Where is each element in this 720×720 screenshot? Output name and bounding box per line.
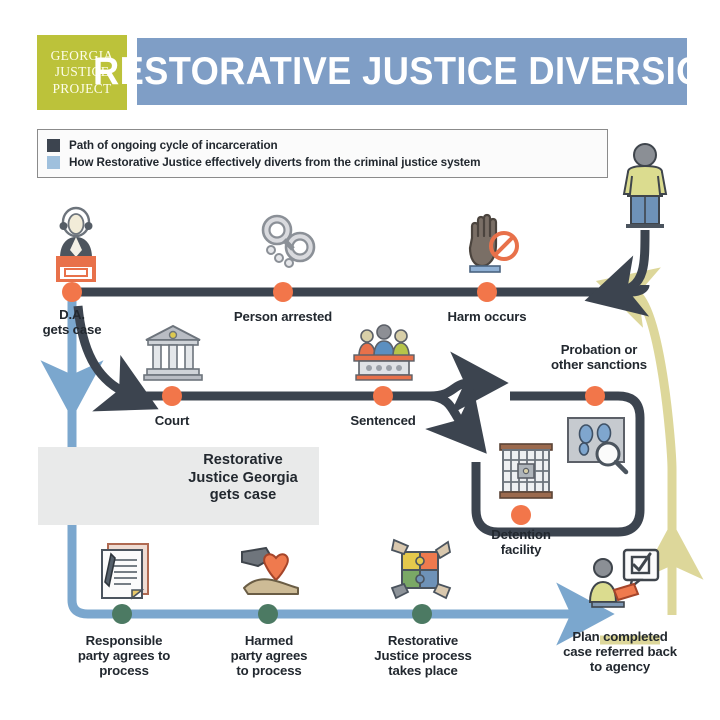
jail-cell-icon [497,440,555,502]
node-detention-facility[interactable] [511,505,531,525]
label-harmed-line-3: to process [210,664,328,679]
label-rjprocess-line-2: Justice process [358,649,488,664]
rj-label-line-3: gets case [168,487,318,505]
label-responsible-line-1: Responsible [62,634,186,649]
label-responsible-line-2: party agrees to [62,649,186,664]
label-da-gets-case: D.A. gets case [22,308,122,338]
rj-label-line-2: Justice Georgia [168,470,318,488]
label-rjprocess-line-1: Restorative [358,634,488,649]
label-court: Court [132,414,212,429]
title-banner: RESTORATIVE JUSTICE DIVERSION [137,38,687,105]
legend-label-restorative: How Restorative Justice effectively dive… [69,156,480,169]
courthouse-icon [142,322,204,384]
node-probation[interactable] [585,386,605,406]
node-court[interactable] [162,386,182,406]
label-harmed-line-2: party agrees [210,649,328,664]
label-plan-completed: Plan completed case referred back to age… [548,630,692,675]
label-da-line-1: D.A. [22,308,122,323]
jury-box-icon [352,324,416,384]
label-person-arrested: Person arrested [208,310,358,325]
node-harmed-party-agrees[interactable] [258,604,278,624]
stop-hand-icon [462,204,520,280]
label-detention-line-2: facility [466,543,576,558]
node-da-gets-case[interactable] [62,282,82,302]
rj-georgia-label: Restorative Justice Georgia gets case [168,452,318,505]
label-detention-line-1: Detention [466,528,576,543]
label-rj-process: Restorative Justice process takes place [358,634,488,679]
label-da-line-2: gets case [22,323,122,338]
label-sentenced: Sentenced [328,414,438,429]
label-probation: Probation or other sanctions [524,343,674,373]
label-probation-line-2: other sanctions [524,358,674,373]
label-plan-line-1: Plan completed [548,630,692,645]
legend-swatch-blue [47,156,60,169]
legend-item-incarceration: Path of ongoing cycle of incarceration [47,139,598,152]
signed-document-icon [96,540,154,602]
page-title: RESTORATIVE JUSTICE DIVERSION [93,50,720,94]
label-plan-line-2: case referred back [548,645,692,660]
node-harm-occurs[interactable] [477,282,497,302]
handcuffs-icon [258,206,318,278]
label-plan-line-3: to agency [548,660,692,675]
legend: Path of ongoing cycle of incarceration H… [37,129,608,178]
label-rjprocess-line-3: takes place [358,664,488,679]
puzzle-hands-icon [390,538,452,604]
legend-label-incarceration: Path of ongoing cycle of incarceration [69,139,278,152]
legend-swatch-dark [47,139,60,152]
label-harmed-party: Harmed party agrees to process [210,634,328,679]
legend-item-restorative: How Restorative Justice effectively dive… [47,156,598,169]
label-harmed-line-1: Harmed [210,634,328,649]
monitoring-icon [566,414,632,476]
standing-person-icon [618,142,672,234]
node-sentenced[interactable] [373,386,393,406]
node-rj-process-takes-place[interactable] [412,604,432,624]
label-probation-line-1: Probation or [524,343,674,358]
label-responsible-line-3: process [62,664,186,679]
label-harm-occurs: Harm occurs [422,310,552,325]
node-responsible-party-agrees[interactable] [112,604,132,624]
node-person-arrested[interactable] [273,282,293,302]
judge-bench-icon [48,200,104,282]
person-checklist-icon [586,548,660,610]
label-responsible-party: Responsible party agrees to process [62,634,186,679]
hand-heart-icon [238,544,306,602]
rj-label-line-1: Restorative [168,452,318,470]
infographic-canvas: GEORGIA JUSTICE PROJECT RESTORATIVE JUST… [0,0,720,720]
label-detention-facility: Detention facility [466,528,576,558]
